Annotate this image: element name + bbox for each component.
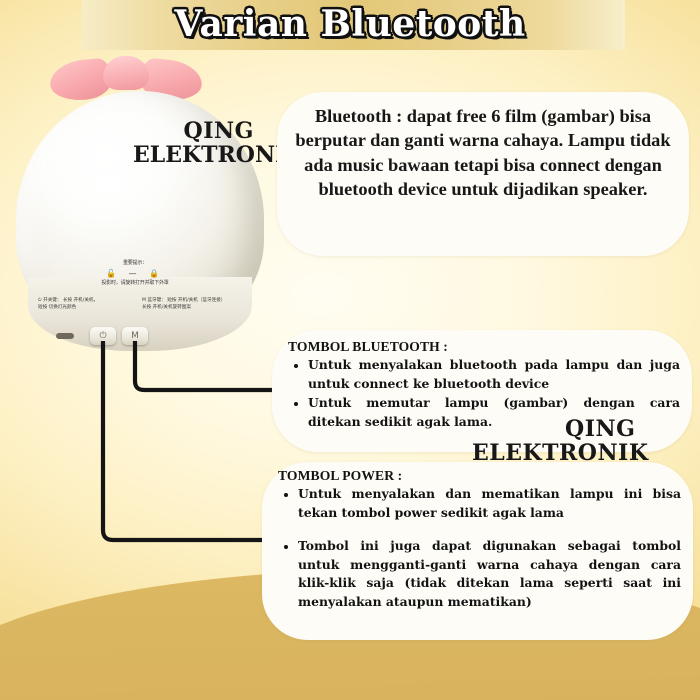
watermark-bottom: QING ELEKTRONIK bbox=[512, 418, 688, 466]
card-bluetooth-intro: Bluetooth : dapat free 6 film (gambar) b… bbox=[277, 92, 689, 256]
connector-power bbox=[103, 341, 272, 540]
card-tombol-power-list: Untuk menyalakan dan mematikan lampu ini… bbox=[276, 485, 681, 612]
card-bluetooth-intro-text: Bluetooth : dapat free 6 film (gambar) b… bbox=[295, 106, 670, 199]
card-tombol-power-title: TOMBOL POWER : bbox=[278, 468, 681, 484]
list-item: Untuk menyalakan bluetooth pada lampu da… bbox=[308, 356, 680, 394]
list-item: Tombol ini juga dapat digunakan sebagai … bbox=[298, 537, 681, 612]
watermark-bottom-line1: QING bbox=[512, 418, 688, 442]
list-item: Untuk menyalakan dan mematikan lampu ini… bbox=[298, 485, 681, 523]
card-tombol-power: TOMBOL POWER : Untuk menyalakan dan mema… bbox=[262, 462, 693, 640]
connector-bluetooth bbox=[135, 341, 282, 390]
infographic-page: Varian Bluetooth 重要提示： 🔓 — 🔒 投影时，请旋转打开并取… bbox=[0, 0, 700, 700]
card-tombol-bluetooth-title: TOMBOL BLUETOOTH : bbox=[288, 339, 680, 355]
